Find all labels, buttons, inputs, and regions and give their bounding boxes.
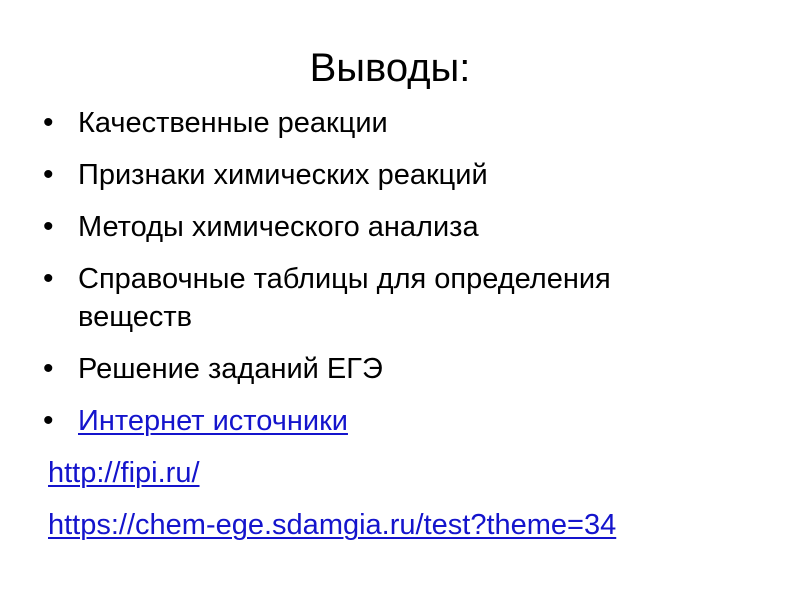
- list-item: • Методы химического анализа: [38, 208, 762, 246]
- bullet-dot-icon: •: [38, 208, 78, 246]
- list-item-label: Качественные реакции: [78, 104, 718, 142]
- list-item-label: Справочные таблицы для определения вещес…: [78, 260, 718, 336]
- list-item-label: Методы химического анализа: [78, 208, 718, 246]
- list-item-internet-sources[interactable]: • Интернет источники: [38, 402, 762, 440]
- link-row-sdamgia[interactable]: https://chem-ege.sdamgia.ru/test?theme=3…: [38, 506, 762, 544]
- list-item: • Справочные таблицы для определения вещ…: [38, 260, 762, 336]
- list-item: • Признаки химических реакций: [38, 156, 762, 194]
- bullet-dot-icon: •: [38, 402, 78, 440]
- slide-canvas: Выводы: • Качественные реакции • Признак…: [0, 0, 800, 600]
- bullet-dot-icon: •: [38, 156, 78, 194]
- internet-sources-link[interactable]: Интернет источники: [78, 402, 718, 440]
- bullet-dot-icon: •: [38, 104, 78, 142]
- list-item: • Качественные реакции: [38, 104, 762, 142]
- list-item: • Решение заданий ЕГЭ: [38, 350, 762, 388]
- conclusions-list: • Качественные реакции • Признаки химиче…: [38, 104, 762, 544]
- sdamgia-url-link[interactable]: https://chem-ege.sdamgia.ru/test?theme=3…: [48, 506, 616, 544]
- list-item-label: Признаки химических реакций: [78, 156, 718, 194]
- fipi-url-link[interactable]: http://fipi.ru/: [48, 454, 200, 492]
- bullet-dot-icon: •: [38, 350, 78, 388]
- list-item-label: Решение заданий ЕГЭ: [78, 350, 718, 388]
- page-title: Выводы:: [0, 44, 780, 92]
- link-row-fipi[interactable]: http://fipi.ru/: [38, 454, 762, 492]
- bullet-dot-icon: •: [38, 260, 78, 298]
